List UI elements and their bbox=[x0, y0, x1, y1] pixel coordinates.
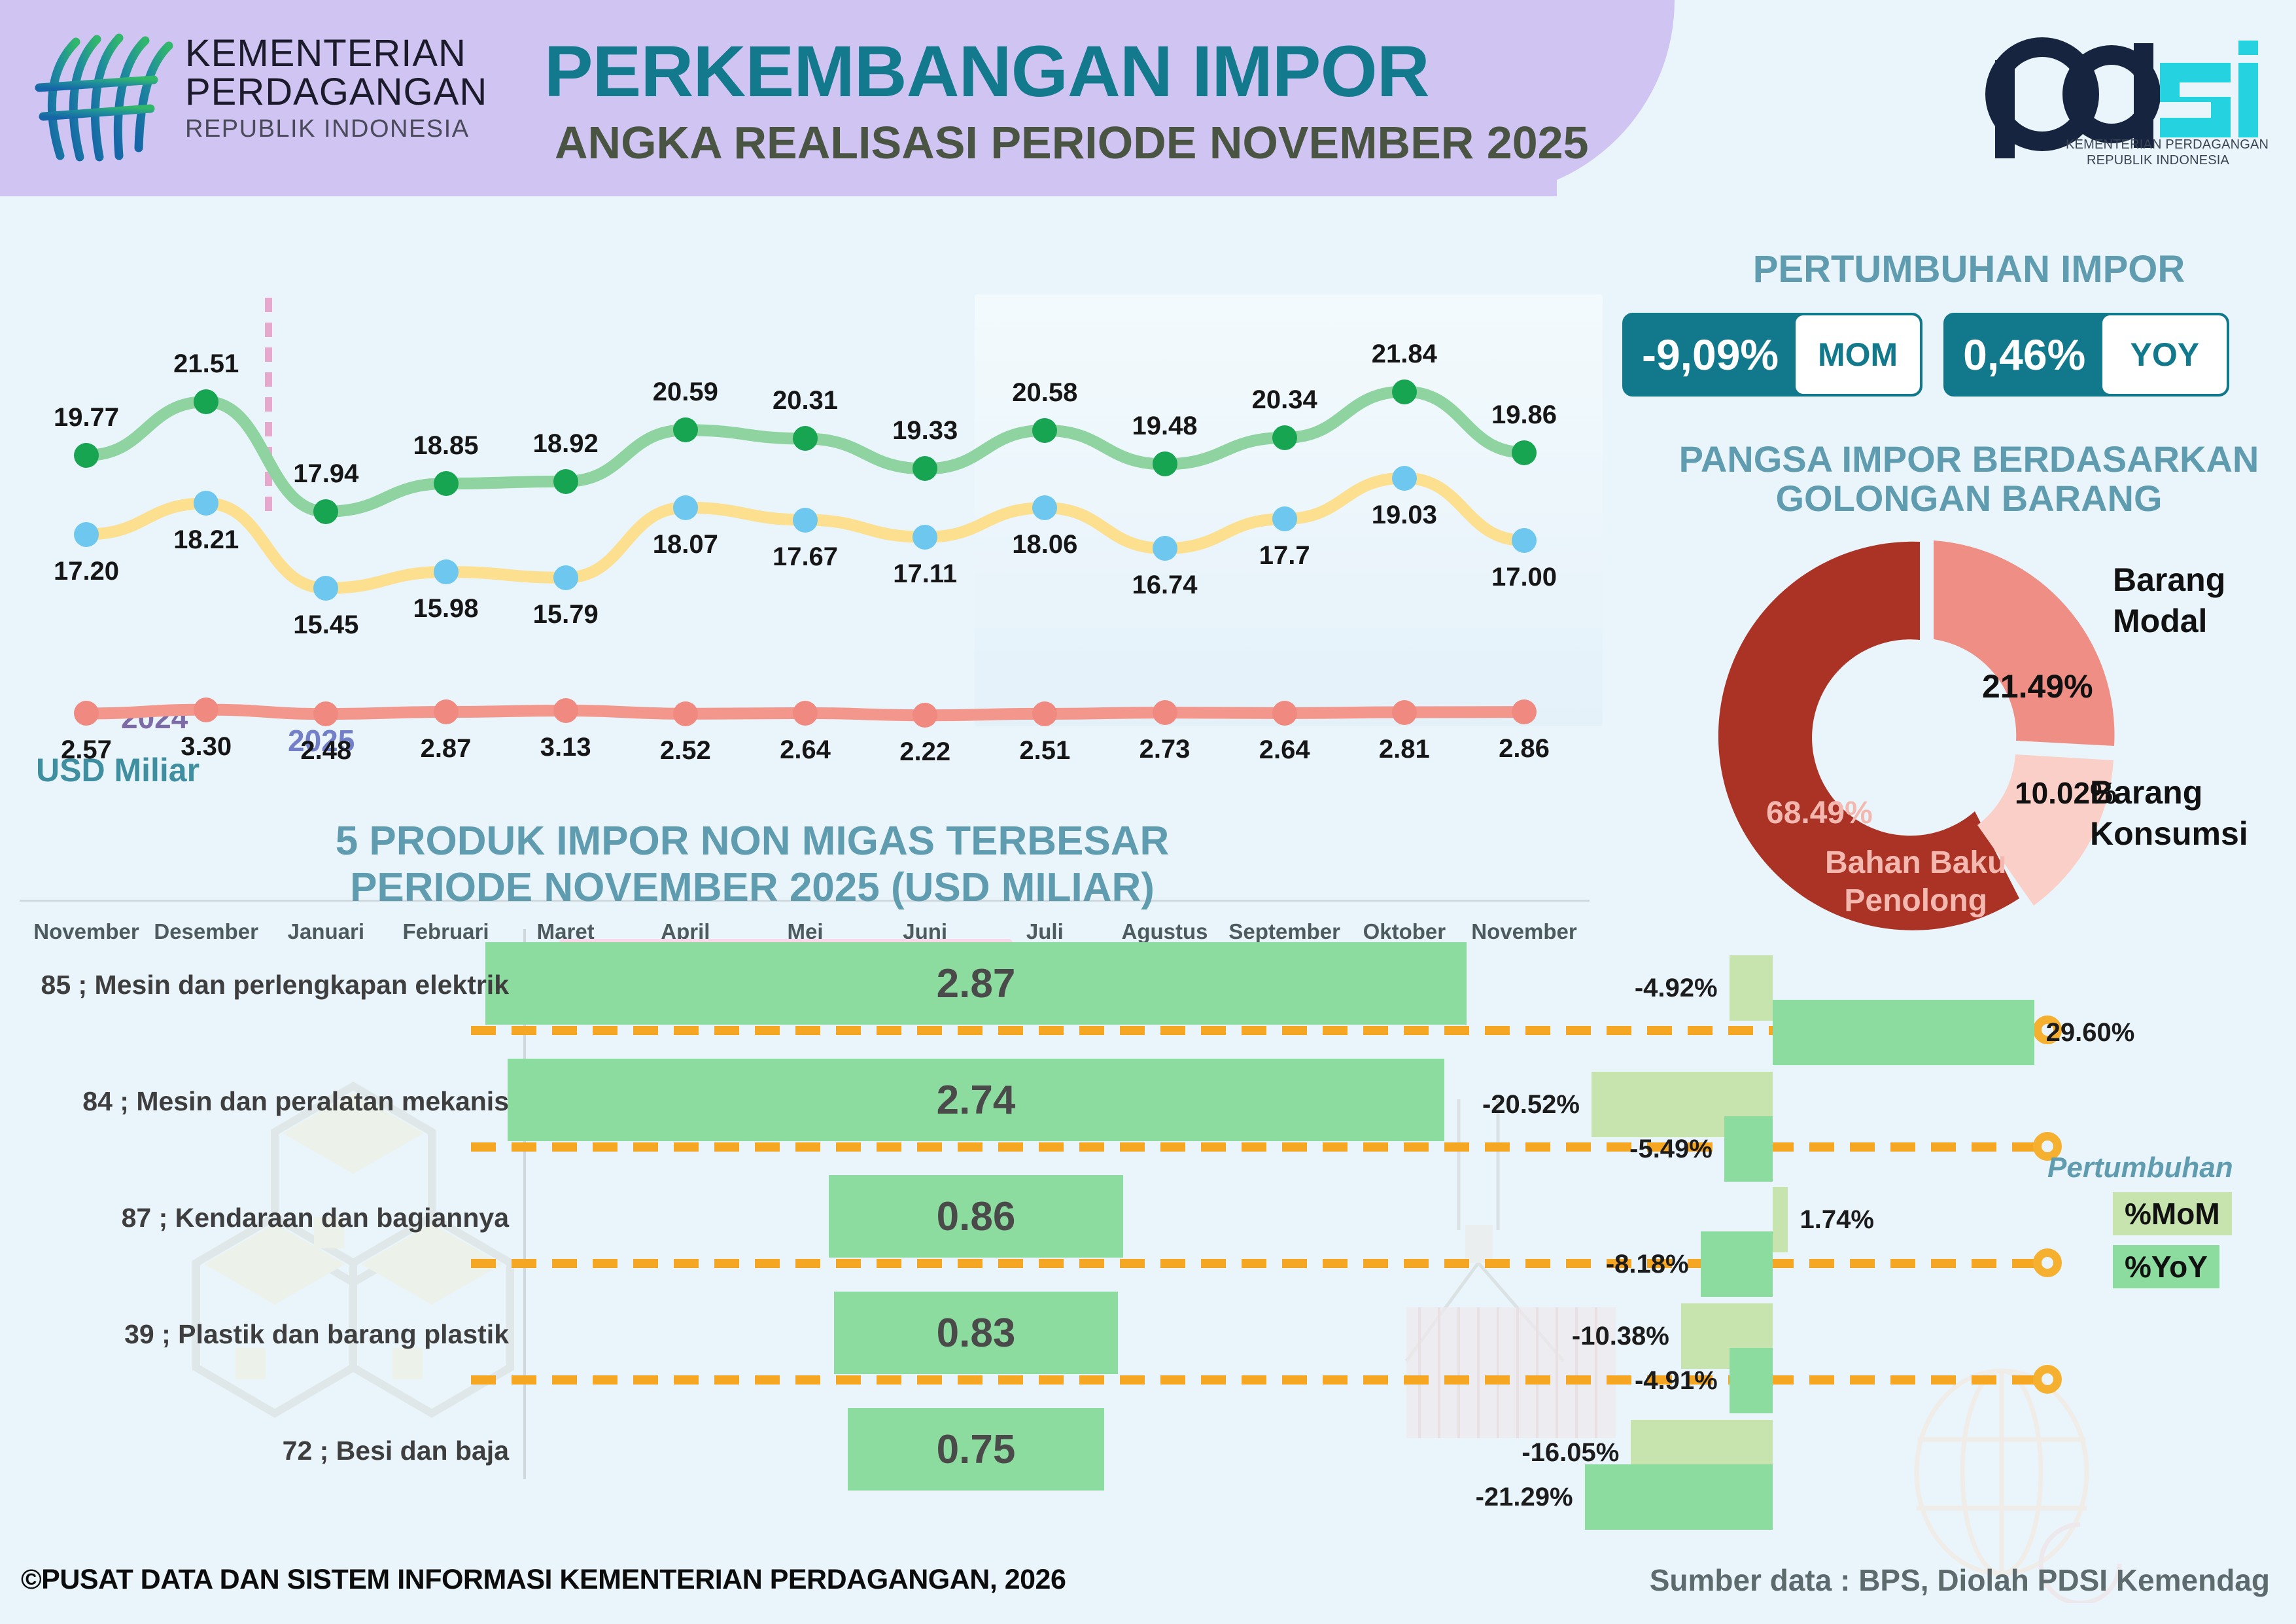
mom-growth-bar-label: -16.05% bbox=[1522, 1438, 1619, 1468]
value-label-total: 20.59 bbox=[653, 378, 718, 407]
growth-badges: -9,09% MOM 0,46% YOY bbox=[1622, 313, 2229, 397]
product-label: 87 ; Kendaraan dan bagiannya bbox=[122, 1203, 509, 1233]
value-label-migas: 2.64 bbox=[1259, 735, 1310, 765]
footer-source: Sumber data : BPS, Diolah PDSI Kemendag bbox=[1650, 1562, 2270, 1598]
value-label-migas: 2.48 bbox=[300, 736, 351, 766]
growth-legend-title: Pertumbuhan bbox=[2047, 1152, 2233, 1184]
data-point-total[interactable] bbox=[673, 417, 698, 442]
product-bar[interactable]: 0.75 bbox=[848, 1408, 1104, 1491]
yoy-value: 0,46% bbox=[1946, 315, 2102, 394]
product-bar-value: 0.75 bbox=[937, 1426, 1016, 1473]
dashed-connector-end-dot bbox=[2033, 1248, 2062, 1277]
data-point-total[interactable] bbox=[1272, 425, 1297, 450]
yoy-growth-bar-label: -8.18% bbox=[1606, 1250, 1689, 1279]
data-point-non-migas[interactable] bbox=[913, 525, 937, 550]
product-bar[interactable]: 0.83 bbox=[834, 1292, 1118, 1374]
donut-value-bahan-baku: 68.49% bbox=[1766, 795, 1873, 831]
data-point-non-migas[interactable] bbox=[434, 559, 459, 584]
value-label-non-migas: 18.06 bbox=[1012, 530, 1077, 559]
product-bar[interactable]: 2.87 bbox=[485, 942, 1467, 1025]
data-point-total[interactable] bbox=[1032, 418, 1057, 443]
product-bar[interactable]: 0.86 bbox=[829, 1175, 1122, 1258]
page-title: PERKEMBANGAN IMPOR bbox=[544, 30, 1429, 113]
value-label-non-migas: 15.45 bbox=[293, 610, 358, 640]
yoy-growth-bar-label: -5.49% bbox=[1629, 1135, 1713, 1164]
product-bar-value: 0.83 bbox=[937, 1310, 1016, 1356]
data-point-migas[interactable] bbox=[194, 697, 218, 722]
top-products-title-line-1: 5 PRODUK IMPOR NON MIGAS TERBESAR bbox=[336, 819, 1170, 864]
top-products-title: 5 PRODUK IMPOR NON MIGAS TERBESAR PERIOD… bbox=[262, 818, 1243, 911]
value-label-total: 20.31 bbox=[773, 386, 838, 415]
value-label-total: 19.86 bbox=[1491, 400, 1557, 430]
donut-label-barang-modal: BarangModal bbox=[2113, 559, 2225, 641]
value-label-total: 20.58 bbox=[1012, 378, 1077, 408]
value-label-non-migas: 17.11 bbox=[893, 559, 957, 589]
data-point-total[interactable] bbox=[1512, 440, 1537, 465]
value-label-total: 18.92 bbox=[533, 429, 599, 459]
mom-growth-bar-label: -4.92% bbox=[1635, 974, 1718, 1003]
yoy-growth-bar[interactable] bbox=[1701, 1231, 1773, 1297]
data-point-total[interactable] bbox=[434, 471, 459, 496]
data-point-migas[interactable] bbox=[1272, 701, 1297, 726]
value-label-migas: 2.86 bbox=[1499, 734, 1550, 764]
data-point-total[interactable] bbox=[74, 443, 99, 468]
value-label-migas: 3.13 bbox=[540, 733, 591, 762]
top-products-bar-chart: 2.872.740.860.830.75 85 ; Mesin dan perl… bbox=[0, 916, 2296, 1505]
value-label-migas: 2.73 bbox=[1139, 735, 1191, 764]
ministry-line-1: KEMENTERIAN bbox=[185, 34, 525, 73]
value-label-migas: 2.81 bbox=[1379, 735, 1430, 764]
growth-key-yoy: %YoY bbox=[2113, 1245, 2219, 1288]
data-point-non-migas[interactable] bbox=[74, 522, 99, 547]
import-trend-line-chart: 2024 2025 USD Miliar 2.573.302.482.873.1… bbox=[0, 196, 1609, 785]
mom-growth-bar[interactable] bbox=[1730, 955, 1773, 1021]
data-point-total[interactable] bbox=[1153, 451, 1177, 476]
dashed-connector bbox=[471, 1259, 2047, 1268]
donut-value-barang-konsumsi: 10.02% bbox=[2015, 775, 2117, 811]
yoy-growth-bar-label: -4.91% bbox=[1635, 1366, 1718, 1396]
data-point-non-migas[interactable] bbox=[313, 576, 338, 601]
donut-value-barang-modal: 21.49% bbox=[1982, 667, 2093, 705]
donut-slice-barang-modal[interactable] bbox=[1934, 540, 2114, 746]
value-label-non-migas: 18.07 bbox=[653, 530, 718, 559]
yoy-growth-bar[interactable] bbox=[1724, 1116, 1773, 1182]
ministry-wordmark: KEMENTERIAN PERDAGANGAN REPUBLIK INDONES… bbox=[185, 34, 525, 143]
value-label-total: 18.85 bbox=[413, 431, 478, 461]
data-point-migas[interactable] bbox=[1392, 700, 1417, 725]
data-point-total[interactable] bbox=[1392, 380, 1417, 404]
data-point-non-migas[interactable] bbox=[1153, 536, 1177, 561]
value-label-total: 19.33 bbox=[892, 416, 958, 446]
data-point-migas[interactable] bbox=[1032, 701, 1057, 726]
product-label: 39 ; Plastik dan barang plastik bbox=[124, 1319, 509, 1350]
value-label-non-migas: 15.79 bbox=[533, 600, 599, 629]
yoy-growth-bar[interactable] bbox=[1585, 1464, 1773, 1530]
value-label-migas: 3.30 bbox=[181, 732, 232, 762]
growth-section-title: PERTUMBUHAN IMPOR bbox=[1675, 247, 2263, 291]
mom-growth-bar[interactable] bbox=[1773, 1187, 1788, 1252]
value-label-total: 21.51 bbox=[173, 349, 239, 379]
yoy-growth-bar-label: 29.60% bbox=[2046, 1018, 2135, 1048]
line-series-paths bbox=[0, 196, 1609, 785]
data-point-migas[interactable] bbox=[673, 701, 698, 726]
dashed-connector-end-dot bbox=[2033, 1365, 2062, 1394]
data-point-migas[interactable] bbox=[1512, 699, 1537, 724]
pdsi-subtitle-line-1: KEMENTERIAN PERDAGANGAN bbox=[2066, 137, 2269, 152]
value-label-non-migas: 15.98 bbox=[413, 594, 478, 624]
value-label-migas: 2.52 bbox=[660, 736, 711, 766]
product-label: 85 ; Mesin dan perlengkapan elektrik bbox=[41, 970, 509, 1000]
value-label-migas: 2.87 bbox=[421, 734, 472, 764]
data-point-non-migas[interactable] bbox=[793, 508, 818, 533]
line-path-non-migas bbox=[86, 478, 1524, 588]
pangsa-section-title: PANGSA IMPOR BERDASARKAN GOLONGAN BARANG bbox=[1655, 440, 2283, 519]
value-label-non-migas: 17.7 bbox=[1259, 541, 1310, 571]
value-label-non-migas: 17.67 bbox=[773, 542, 838, 572]
header: KEMENTERIAN PERDAGANGAN REPUBLIK INDONES… bbox=[0, 0, 2296, 196]
mom-badge[interactable]: -9,09% MOM bbox=[1622, 313, 1922, 397]
value-label-migas: 2.64 bbox=[780, 735, 831, 765]
data-point-non-migas[interactable] bbox=[1392, 466, 1417, 491]
value-label-non-migas: 17.20 bbox=[54, 557, 119, 586]
ministry-line-2: PERDAGANGAN bbox=[185, 73, 525, 111]
value-label-non-migas: 16.74 bbox=[1132, 571, 1197, 600]
pangsa-title-line-1: PANGSA IMPOR BERDASARKAN bbox=[1679, 438, 2259, 480]
yoy-growth-bar-label: -21.29% bbox=[1476, 1483, 1573, 1512]
dashed-connector bbox=[471, 1142, 2047, 1152]
product-label: 72 ; Besi dan baja bbox=[283, 1436, 509, 1466]
donut-label-bahan-baku: Bahan BakuPenolong bbox=[1825, 844, 2006, 919]
product-bar-value: 2.74 bbox=[937, 1077, 1016, 1123]
dashed-connector bbox=[471, 1375, 2047, 1385]
yoy-badge[interactable]: 0,46% YOY bbox=[1943, 313, 2229, 397]
value-label-non-migas: 17.00 bbox=[1491, 563, 1557, 592]
data-point-migas[interactable] bbox=[553, 698, 578, 723]
growth-key-mom: %MoM bbox=[2113, 1192, 2232, 1235]
product-label: 84 ; Mesin dan peralatan mekanis bbox=[82, 1086, 509, 1117]
page-subtitle: ANGKA REALISASI PERIODE NOVEMBER 2025 bbox=[555, 116, 1589, 169]
product-bar[interactable]: 2.74 bbox=[508, 1059, 1444, 1141]
value-label-total: 19.48 bbox=[1132, 412, 1197, 441]
mom-growth-bar-label: -20.52% bbox=[1482, 1090, 1580, 1120]
value-label-total: 17.94 bbox=[293, 459, 358, 489]
data-point-migas[interactable] bbox=[1153, 700, 1177, 725]
data-point-migas[interactable] bbox=[793, 701, 818, 726]
data-point-non-migas[interactable] bbox=[1272, 506, 1297, 531]
yoy-label: YOY bbox=[2102, 315, 2227, 394]
data-point-migas[interactable] bbox=[434, 699, 459, 724]
mom-value: -9,09% bbox=[1625, 315, 1796, 394]
mom-growth-bar-label: -10.38% bbox=[1572, 1322, 1669, 1351]
yoy-growth-bar[interactable] bbox=[1773, 1000, 2034, 1065]
value-label-migas: 2.57 bbox=[61, 735, 112, 765]
ministry-line-3: REPUBLIK INDONESIA bbox=[185, 115, 525, 143]
value-label-migas: 2.51 bbox=[1019, 736, 1070, 766]
data-point-total[interactable] bbox=[194, 389, 218, 414]
value-label-total: 21.84 bbox=[1372, 340, 1437, 369]
product-bar-value: 2.87 bbox=[937, 961, 1016, 1007]
pangsa-title-line-2: GOLONGAN BARANG bbox=[1775, 478, 2162, 519]
data-point-non-migas[interactable] bbox=[553, 565, 578, 590]
data-point-non-migas[interactable] bbox=[1512, 528, 1537, 553]
mom-growth-bar-label: 1.74% bbox=[1800, 1205, 1873, 1235]
value-label-migas: 2.22 bbox=[899, 737, 950, 767]
value-label-non-migas: 18.21 bbox=[173, 525, 239, 555]
product-bar-value: 0.86 bbox=[937, 1193, 1016, 1240]
data-point-total[interactable] bbox=[313, 499, 338, 524]
pdsi-subtitle-line-2: REPUBLIK INDONESIA bbox=[2087, 153, 2229, 168]
mom-label: MOM bbox=[1796, 315, 1920, 394]
value-label-non-migas: 19.03 bbox=[1372, 501, 1437, 530]
top-products-title-line-2: PERIODE NOVEMBER 2025 (USD MILIAR) bbox=[350, 865, 1155, 910]
yoy-growth-bar[interactable] bbox=[1730, 1348, 1773, 1413]
data-point-total[interactable] bbox=[553, 469, 578, 494]
value-label-total: 19.77 bbox=[54, 403, 119, 432]
footer-copyright: ©PUSAT DATA DAN SISTEM INFORMASI KEMENTE… bbox=[21, 1564, 1066, 1596]
value-label-total: 20.34 bbox=[1252, 385, 1317, 415]
data-point-non-migas[interactable] bbox=[673, 495, 698, 520]
